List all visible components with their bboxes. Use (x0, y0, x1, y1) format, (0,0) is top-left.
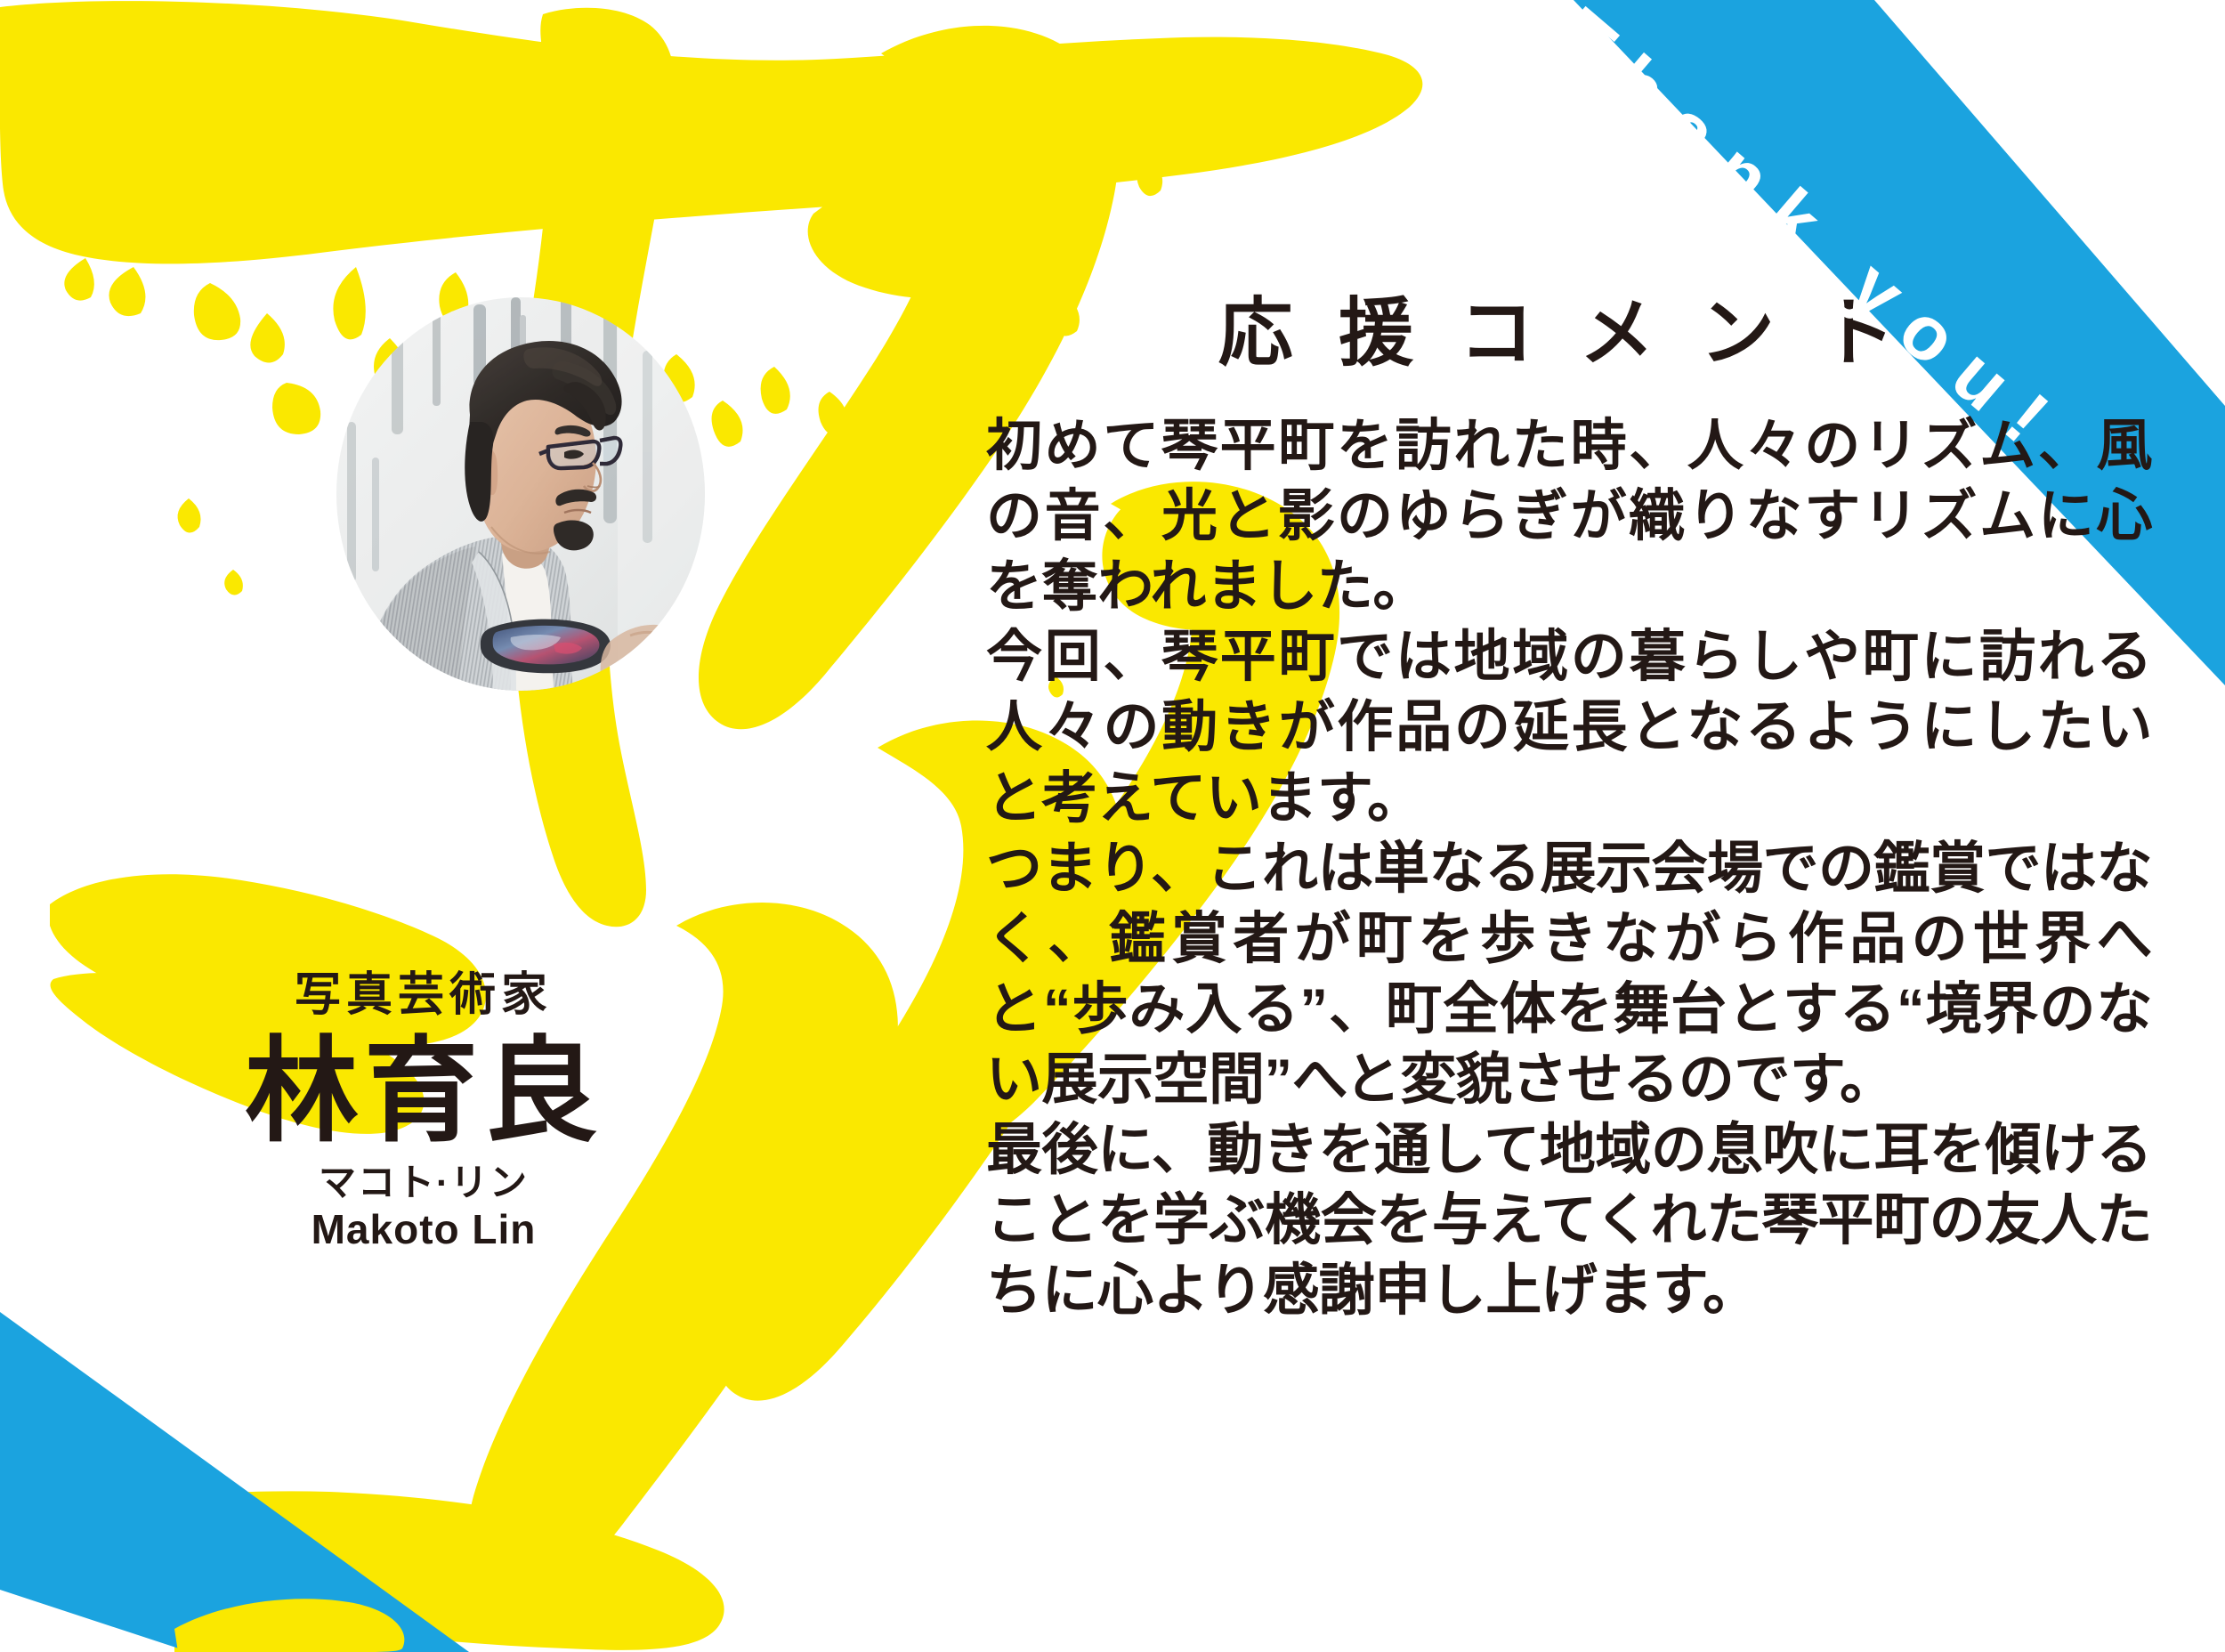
comment-paragraph: 今回、琴平町では地域の暮らしや町に訪れる人々の動きが作品の延長となるようにしたい… (986, 622, 2152, 833)
artist-portrait (336, 297, 705, 691)
comment-paragraph: 初めて琴平町を訪れた時、人々のリズム、風の音、光と影のゆらぎが織りなすリズムに心… (986, 411, 2152, 622)
support-comment-section: 応 援 コ メ ン ト 初めて琴平町を訪れた時、人々のリズム、風の音、光と影のゆ… (986, 294, 2152, 1326)
artist-role-label: 写真芸術家 (174, 970, 673, 1021)
bottom-left-ribbon-band (0, 1312, 469, 1652)
artist-name-kana: マコト·リン (174, 1162, 673, 1204)
comment-paragraph: つまり、これは単なる展示会場での鑑賞ではなく、鑑賞者が町を歩きながら作品の世界へ… (986, 834, 2152, 1115)
artist-name: 林育良 (174, 1035, 673, 1149)
portrait-photo (336, 297, 705, 691)
artist-name-roman: Makoto Lin (174, 1206, 673, 1253)
comment-body: 初めて琴平町を訪れた時、人々のリズム、風の音、光と影のゆらぎが織りなすリズムに心… (986, 411, 2152, 1326)
poster-canvas: Thank you! 写真芸術家 林育良 マコト·リン Makoto Lin 応… (0, 0, 2225, 1652)
section-heading: 応 援 コ メ ン ト (986, 294, 2152, 372)
comment-paragraph: 最後に、動きを通して地域の息吹に耳を傾けることを学ぶ機会を与えてくれた琴平町の友… (986, 1115, 2152, 1326)
artist-info-block: 写真芸術家 林育良 マコト·リン Makoto Lin (174, 970, 673, 1253)
